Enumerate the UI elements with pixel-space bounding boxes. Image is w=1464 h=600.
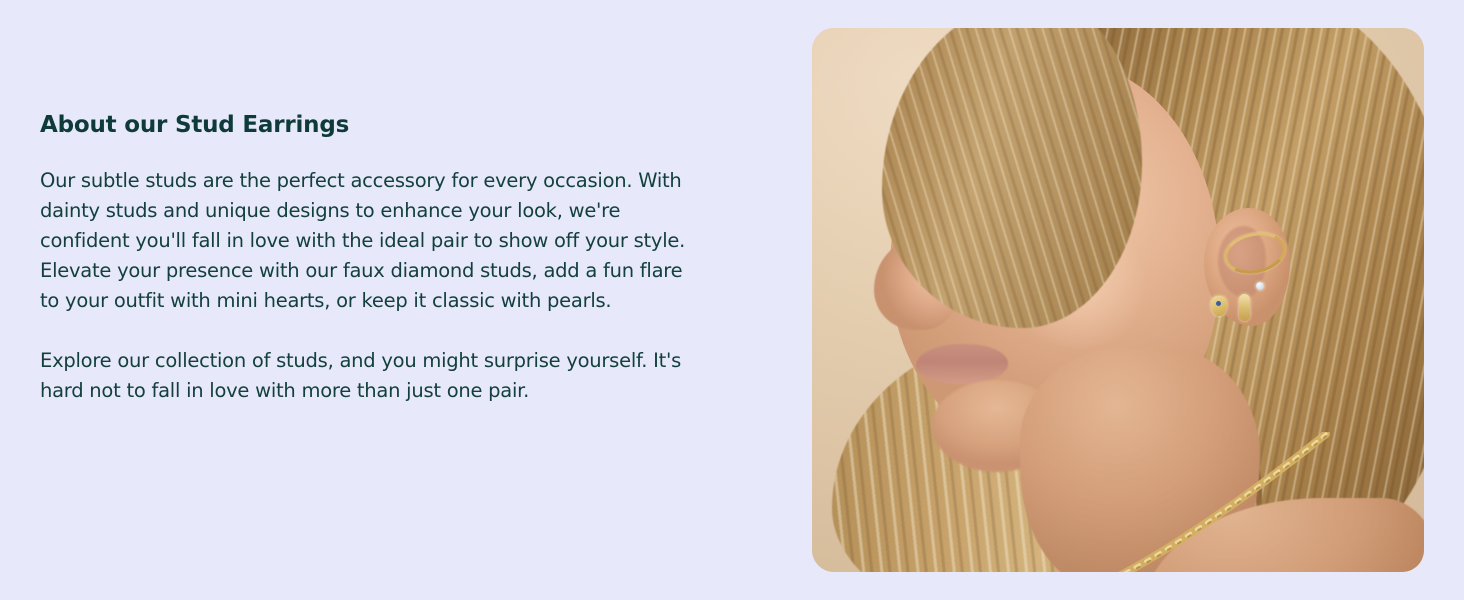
model-profile-photo	[812, 28, 1424, 572]
hair-front	[882, 28, 1142, 328]
about-text-column: About our Stud Earrings Our subtle studs…	[40, 112, 720, 406]
about-paragraph-2: Explore our collection of studs, and you…	[40, 346, 702, 406]
tiny-crystal-stud-icon	[1256, 282, 1264, 290]
page-title: About our Stud Earrings	[40, 112, 720, 140]
about-section: About our Stud Earrings Our subtle studs…	[0, 0, 1464, 600]
photo-backdrop	[812, 28, 1424, 572]
lips	[916, 344, 1008, 384]
about-paragraph-1: Our subtle studs are the perfect accesso…	[40, 166, 702, 316]
pave-huggie-hoop-icon	[1239, 294, 1250, 321]
